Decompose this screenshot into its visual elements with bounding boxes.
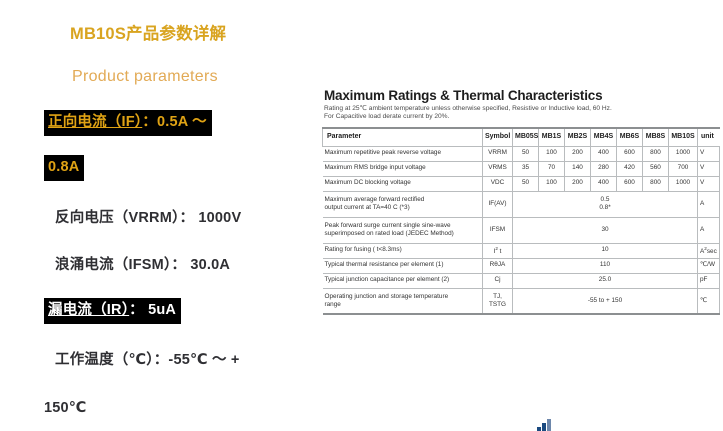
spec-row-forward-current-cont: 0.8A <box>44 155 84 181</box>
cell-value: 420 <box>617 161 643 176</box>
cell-symbol: VDC <box>483 176 513 191</box>
product-spec-panel: MB10S产品参数详解 Product parameters 正向电流（IF）：… <box>0 0 320 431</box>
spec-label-reverse-voltage: 反向电压（VRRM） <box>55 210 179 226</box>
cell-parameter: Typical junction capacitance per element… <box>323 273 483 288</box>
cell-parameter-line-1: Maximum average forward rectified <box>325 196 425 203</box>
cell-symbol: VRMS <box>483 161 513 176</box>
col-header-mb2s: MB2S <box>565 128 591 147</box>
spec-value-forward-current: ：0.5A ～ <box>142 114 207 130</box>
col-header-mb05s: MB05S <box>513 128 539 147</box>
cell-value-span: 30 <box>513 217 698 243</box>
cell-value-line-1: 0.5 <box>601 196 610 203</box>
spec-label-forward-current: 正向电流（IF） <box>48 114 142 130</box>
cell-value: 1000 <box>669 146 698 161</box>
cell-value-span: 110 <box>513 258 698 273</box>
cell-value: 800 <box>643 146 669 161</box>
cell-parameter: Maximum average forward rectified output… <box>323 191 483 217</box>
cell-parameter-line-2: range <box>325 301 341 308</box>
col-header-mb8s: MB8S <box>643 128 669 147</box>
table-row: Typical thermal resistance per element (… <box>323 258 720 273</box>
cell-symbol: RθJA <box>483 258 513 273</box>
col-header-mb4s: MB4S <box>591 128 617 147</box>
spec-value-reverse-voltage: ： 1000V <box>179 210 241 226</box>
spec-value-operating-temperature: ：-55℃ ～ + <box>154 352 240 368</box>
cell-unit: V <box>698 176 720 191</box>
cell-symbol: VRRM <box>483 146 513 161</box>
cell-value-line-2: 0.8* <box>599 204 610 211</box>
spec-row-operating-temperature: 工作温度（℃）：-55℃ ～ + <box>55 350 240 371</box>
cell-value: 400 <box>591 176 617 191</box>
cell-value: 140 <box>565 161 591 176</box>
table-header-row: Parameter Symbol MB05S MB1S MB2S MB4S MB… <box>323 128 720 147</box>
table-row: Rating for fusing ( t<8.3ms) I2 t 10 A2s… <box>323 243 720 258</box>
cell-unit: ℃/W <box>698 258 720 273</box>
table-row: Maximum repetitive peak reverse voltage … <box>323 146 720 161</box>
cell-symbol-superscript: 2 <box>495 246 498 251</box>
cell-value-span: 10 <box>513 243 698 258</box>
cell-parameter: Typical thermal resistance per element (… <box>323 258 483 273</box>
spec-row-reverse-voltage: 反向电压（VRRM）： 1000V <box>55 208 241 229</box>
datasheet-note-line-1: Rating at 25℃ ambient temperature unless… <box>324 105 720 113</box>
cell-value-span: 25.0 <box>513 273 698 288</box>
cell-value: 800 <box>643 176 669 191</box>
bar-chart-bar-1 <box>537 427 541 431</box>
cell-symbol-line-1: TJ, <box>493 293 502 300</box>
cell-parameter: Rating for fusing ( t<8.3ms) <box>323 243 483 258</box>
cell-unit: A <box>698 191 720 217</box>
cell-value: 50 <box>513 146 539 161</box>
cell-symbol: Cj <box>483 273 513 288</box>
cell-value: 100 <box>539 176 565 191</box>
col-header-unit: unit <box>698 128 720 147</box>
spec-value-leakage-current: ： 5uA <box>129 302 176 318</box>
spec-row-surge-current: 浪涌电流（IFSM）： 30.0A <box>55 255 230 276</box>
cell-value: 100 <box>539 146 565 161</box>
cell-value: 200 <box>565 176 591 191</box>
cell-value: 50 <box>513 176 539 191</box>
table-row: Operating junction and storage temperatu… <box>323 288 720 314</box>
cell-parameter-line-2: output current at TA=40 C (*3) <box>325 204 410 211</box>
cell-symbol: TJ, TSTG <box>483 288 513 314</box>
spec-label-surge-current: 浪涌电流（IFSM） <box>55 257 171 273</box>
cell-value: 560 <box>643 161 669 176</box>
col-header-symbol: Symbol <box>483 128 513 147</box>
cell-value: 400 <box>591 146 617 161</box>
table-row: Maximum RMS bridge input voltage VRMS 35… <box>323 161 720 176</box>
cell-symbol: I2 t <box>483 243 513 258</box>
cell-value: 200 <box>565 146 591 161</box>
spec-label-leakage-current: 漏电流（IR） <box>48 302 129 318</box>
spec-value-operating-temperature-max: 150℃ <box>44 400 87 416</box>
maximum-ratings-table: Parameter Symbol MB05S MB1S MB2S MB4S MB… <box>322 127 720 316</box>
col-header-mb1s: MB1S <box>539 128 565 147</box>
cell-unit: A <box>698 217 720 243</box>
table-row: Maximum DC blocking voltage VDC 50 100 2… <box>323 176 720 191</box>
cell-parameter-line-1: Operating junction and storage temperatu… <box>325 293 449 300</box>
cell-unit: V <box>698 161 720 176</box>
cell-parameter: Operating junction and storage temperatu… <box>323 288 483 314</box>
cell-parameter: Maximum repetitive peak reverse voltage <box>323 146 483 161</box>
bar-chart-bar-3 <box>547 419 551 431</box>
table-row: Peak forward surge current single sine-w… <box>323 217 720 243</box>
cell-value: 35 <box>513 161 539 176</box>
cell-unit: V <box>698 146 720 161</box>
cell-symbol: IFSM <box>483 217 513 243</box>
bar-chart-bar-2 <box>542 423 546 431</box>
cell-unit: pF <box>698 273 720 288</box>
cell-symbol: IF(AV) <box>483 191 513 217</box>
cell-parameter: Peak forward surge current single sine-w… <box>323 217 483 243</box>
cell-symbol-line-2: TSTG <box>489 301 506 308</box>
page-subtitle: Product parameters <box>72 68 218 86</box>
cell-value: 700 <box>669 161 698 176</box>
datasheet-title: Maximum Ratings & Thermal Characteristic… <box>324 88 720 104</box>
spec-label-operating-temperature: 工作温度（℃） <box>55 352 154 368</box>
spec-row-forward-current: 正向电流（IF）：0.5A ～ <box>44 110 212 136</box>
spec-value-forward-current-max: 0.8A <box>48 159 79 175</box>
col-header-parameter: Parameter <box>323 128 483 147</box>
cell-value-span: -55 to + 150 <box>513 288 698 314</box>
datasheet-note-line-2: For Capacitive load derate current by 20… <box>324 113 720 121</box>
cell-unit-superscript: 2 <box>704 246 707 251</box>
cell-value: 1000 <box>669 176 698 191</box>
cell-value: 600 <box>617 176 643 191</box>
cell-value: 600 <box>617 146 643 161</box>
cell-parameter-line-1: Peak forward surge current single sine-w… <box>325 222 451 229</box>
spec-row-leakage-current: 漏电流（IR）： 5uA <box>44 298 181 324</box>
spec-row-operating-temperature-cont: 150℃ <box>44 398 87 419</box>
col-header-mb10s: MB10S <box>669 128 698 147</box>
cell-unit: A2sec <box>698 243 720 258</box>
cell-value: 280 <box>591 161 617 176</box>
cell-parameter: Maximum DC blocking voltage <box>323 176 483 191</box>
col-header-mb6s: MB6S <box>617 128 643 147</box>
table-row: Typical junction capacitance per element… <box>323 273 720 288</box>
cell-value-span: 0.5 0.8* <box>513 191 698 217</box>
cell-value: 70 <box>539 161 565 176</box>
table-row: Maximum average forward rectified output… <box>323 191 720 217</box>
cell-unit: ℃ <box>698 288 720 314</box>
cell-parameter-line-2: superimposed on rated load (JEDEC Method… <box>325 230 454 237</box>
cell-parameter: Maximum RMS bridge input voltage <box>323 161 483 176</box>
spec-value-surge-current: ： 30.0A <box>171 257 230 273</box>
bar-chart-icon <box>537 416 557 431</box>
page-title: MB10S产品参数详解 <box>70 20 226 44</box>
datasheet-table-image: Maximum Ratings & Thermal Characteristic… <box>322 88 720 315</box>
